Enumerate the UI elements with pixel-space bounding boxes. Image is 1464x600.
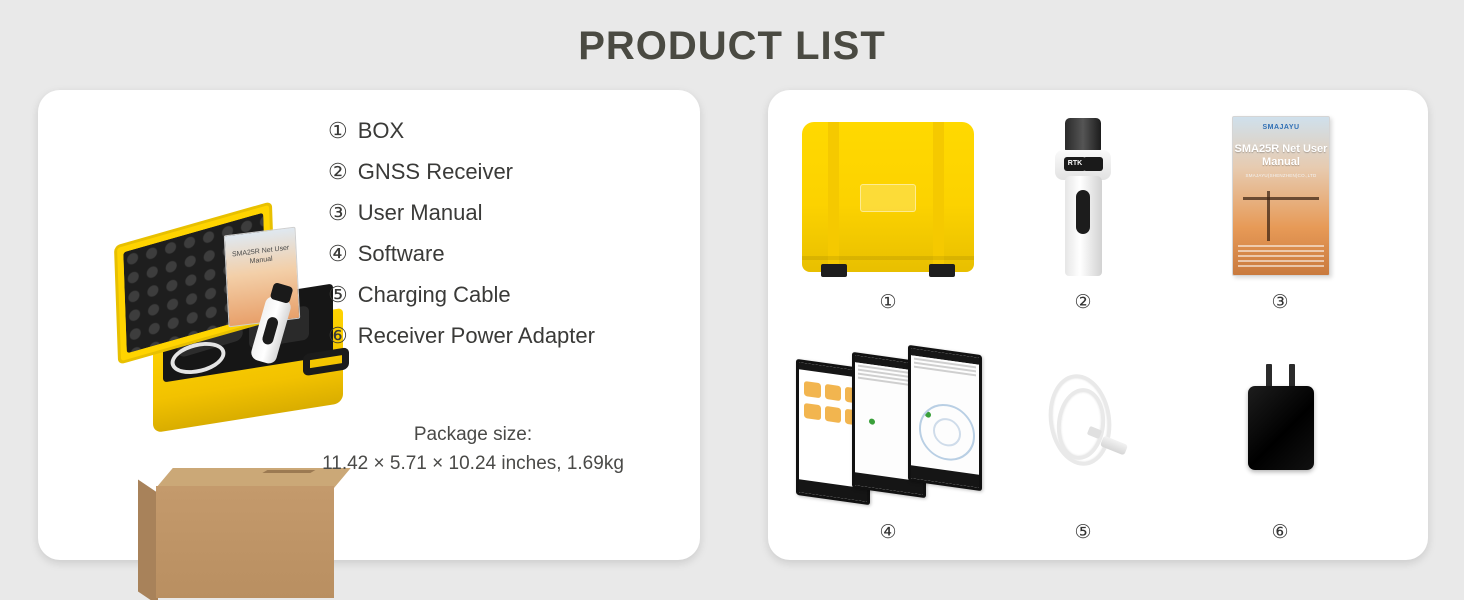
skyplot-rings-icon xyxy=(919,400,975,464)
grid-cell-caption: ② xyxy=(983,291,1183,314)
left-panel-card: SMA25R Net User Manual ① BOX ② GNSS Rece… xyxy=(38,90,700,560)
case-label-plate xyxy=(860,184,916,212)
phone-screenshot-stack xyxy=(794,350,984,505)
grid-cell-charging-cable: ⑤ xyxy=(983,340,1183,544)
gnss-receiver-device: RTK xyxy=(1049,118,1117,278)
package-size-heading: Package size: xyxy=(288,420,658,449)
power-adapter-device xyxy=(1248,364,1314,484)
grid-cell-user-manual: SMAJAYU SMA25R Net User Manual SMAJAYU(S… xyxy=(1180,110,1380,314)
list-item: ③ User Manual xyxy=(328,200,595,226)
list-item-label: GNSS Receiver xyxy=(358,159,513,185)
product-list-infographic: PRODUCT LIST SMA25R Net User Manual ① xyxy=(0,0,1464,600)
receiver-body xyxy=(1065,176,1102,276)
page-title: PRODUCT LIST xyxy=(0,24,1464,69)
coiled-usb-cable xyxy=(1041,362,1131,490)
list-item-label: Software xyxy=(358,241,445,267)
case-latch xyxy=(929,264,955,277)
software-screenshots-photo xyxy=(788,340,988,515)
manual-cover: SMAJAYU SMA25R Net User Manual SMAJAYU(S… xyxy=(1232,116,1330,276)
satellite-skyplot-view xyxy=(911,355,979,475)
power-adapter-photo xyxy=(1180,340,1380,515)
manual-logo: SMAJAYU xyxy=(1233,124,1329,131)
list-item-label: Charging Cable xyxy=(358,282,511,308)
list-item-number: ① xyxy=(328,120,348,142)
carton-front-face xyxy=(156,486,334,598)
list-item-number: ⑥ xyxy=(328,325,348,347)
list-item-label: Receiver Power Adapter xyxy=(358,323,595,349)
case-lid-seam xyxy=(802,256,974,260)
grid-cell-power-adapter: ⑥ xyxy=(1180,340,1380,544)
list-item: ⑤ Charging Cable xyxy=(328,282,595,308)
case-rib xyxy=(828,122,839,272)
list-item-label: User Manual xyxy=(358,200,483,226)
grid-cell-caption: ④ xyxy=(788,521,988,544)
charging-cable-photo xyxy=(983,340,1183,515)
list-item: ① BOX xyxy=(328,118,595,144)
list-item: ② GNSS Receiver xyxy=(328,159,595,185)
product-image-grid: ① RTK ② xyxy=(768,90,1428,560)
list-item-number: ③ xyxy=(328,202,348,224)
adapter-body xyxy=(1248,386,1314,470)
product-item-list: ① BOX ② GNSS Receiver ③ User Manual ④ So… xyxy=(328,118,595,364)
package-size-dimensions: 11.42 × 5.71 × 10.24 inches, 1.69kg xyxy=(288,449,658,478)
list-item-label: BOX xyxy=(358,118,404,144)
gnss-receiver-photo: RTK xyxy=(983,110,1183,285)
open-case-photo: SMA25R Net User Manual xyxy=(108,215,363,420)
grid-cell-caption: ⑥ xyxy=(1180,521,1380,544)
manual-subtitle: SMAJAYU(SHENZHEN)CO.,LTD xyxy=(1233,173,1329,178)
case-rib xyxy=(933,122,944,272)
receiver-button-panel xyxy=(1083,157,1103,171)
package-size-block: Package size: 11.42 × 5.71 × 10.24 inche… xyxy=(288,420,658,479)
list-item: ⑥ Receiver Power Adapter xyxy=(328,323,595,349)
receiver-display-strip xyxy=(1076,190,1090,234)
manual-footer-lines xyxy=(1238,245,1324,271)
manual-title: SMA25R Net User Manual xyxy=(1233,143,1329,169)
grid-cell-caption: ⑤ xyxy=(983,521,1183,544)
right-panel-card: ① RTK ② xyxy=(768,90,1428,560)
carton-side-face xyxy=(138,480,158,600)
list-item-number: ② xyxy=(328,161,348,183)
list-item-number: ⑤ xyxy=(328,284,348,306)
user-manual-photo: SMAJAYU SMA25R Net User Manual SMAJAYU(S… xyxy=(1180,110,1380,285)
grid-cell-hard-case: ① xyxy=(788,110,988,314)
case-latch xyxy=(821,264,847,277)
crane-silhouette-icon xyxy=(1241,189,1323,241)
grid-cell-gnss-receiver: RTK ② xyxy=(983,110,1183,314)
phone-screenshot-skyplot xyxy=(908,345,982,491)
list-item: ④ Software xyxy=(328,241,595,267)
closed-yellow-case xyxy=(802,122,974,272)
grid-cell-caption: ③ xyxy=(1180,291,1380,314)
receiver-antenna-cap xyxy=(1065,118,1101,152)
grid-cell-caption: ① xyxy=(788,291,988,314)
cardboard-carton-photo xyxy=(138,468,334,600)
hard-case-photo xyxy=(788,110,988,285)
grid-cell-software: ④ xyxy=(788,340,988,544)
list-item-number: ④ xyxy=(328,243,348,265)
